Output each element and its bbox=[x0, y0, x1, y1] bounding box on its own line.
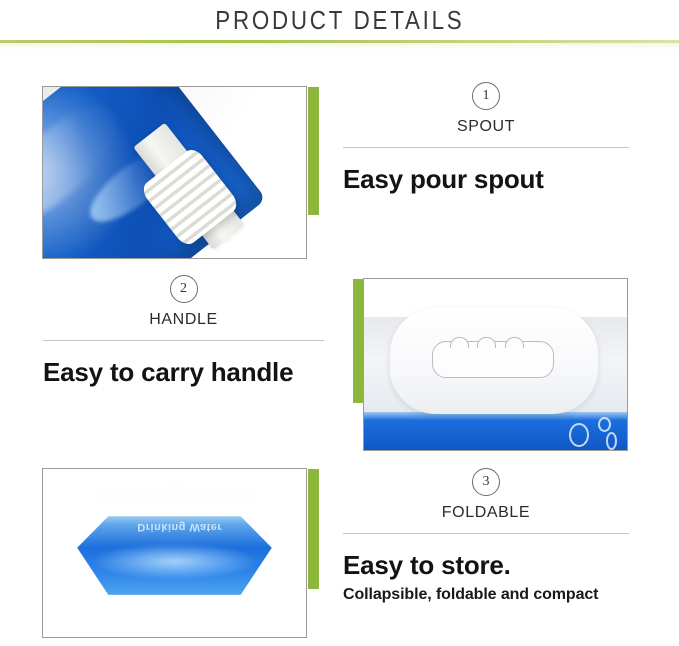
product-photo-spout bbox=[42, 86, 307, 259]
feature-divider bbox=[343, 147, 629, 148]
water-bubble-icon bbox=[598, 417, 611, 432]
feature-number-badge: 2 bbox=[170, 275, 198, 303]
feature-heading: Easy pour spout bbox=[343, 165, 544, 194]
feature-subtext: Collapsible, foldable and compact bbox=[343, 586, 598, 604]
handle-plate-shape bbox=[390, 308, 598, 414]
feature-heading: Easy to carry handle bbox=[43, 358, 293, 387]
feature-divider bbox=[343, 533, 629, 534]
handle-finger-grip bbox=[505, 337, 524, 348]
green-accent-bar bbox=[308, 469, 319, 589]
pouch-highlight bbox=[80, 479, 269, 516]
water-bubble-icon bbox=[569, 423, 589, 447]
product-photo-foldable: Drinking Water bbox=[42, 468, 307, 638]
feature-block-handle: 2 HANDLE Easy to carry handle bbox=[43, 275, 324, 387]
feature-label: FOLDABLE bbox=[442, 504, 530, 522]
pouch-water-band bbox=[364, 412, 627, 450]
photo-spout-canvas bbox=[43, 87, 306, 258]
feature-number-badge: 1 bbox=[472, 82, 500, 110]
feature-block-foldable: 3 FOLDABLE Easy to store. Collapsible, f… bbox=[343, 468, 629, 604]
feature-number-badge: 3 bbox=[472, 468, 500, 496]
photo-foldable-canvas: Drinking Water bbox=[43, 469, 306, 637]
feature-label: HANDLE bbox=[149, 311, 218, 329]
feature-heading: Easy to store. bbox=[343, 551, 511, 580]
green-accent-bar bbox=[308, 87, 319, 215]
water-bubble-icon bbox=[606, 432, 617, 450]
feature-divider bbox=[43, 340, 324, 341]
handle-cutout-shape bbox=[432, 341, 555, 378]
pouch-printed-label: Drinking Water bbox=[111, 521, 248, 533]
header-divider-glow bbox=[0, 43, 679, 50]
feature-label: SPOUT bbox=[457, 118, 515, 136]
product-photo-handle bbox=[363, 278, 628, 451]
handle-finger-grip bbox=[477, 337, 496, 348]
feature-block-spout: 1 SPOUT Easy pour spout bbox=[343, 82, 629, 194]
handle-finger-grip bbox=[450, 337, 469, 348]
green-accent-bar bbox=[353, 279, 364, 403]
page-title: PRODUCT DETAILS bbox=[215, 5, 464, 36]
pouch-highlight-secondary bbox=[90, 543, 258, 580]
page-header: PRODUCT DETAILS bbox=[0, 0, 679, 40]
photo-handle-canvas bbox=[364, 279, 627, 450]
